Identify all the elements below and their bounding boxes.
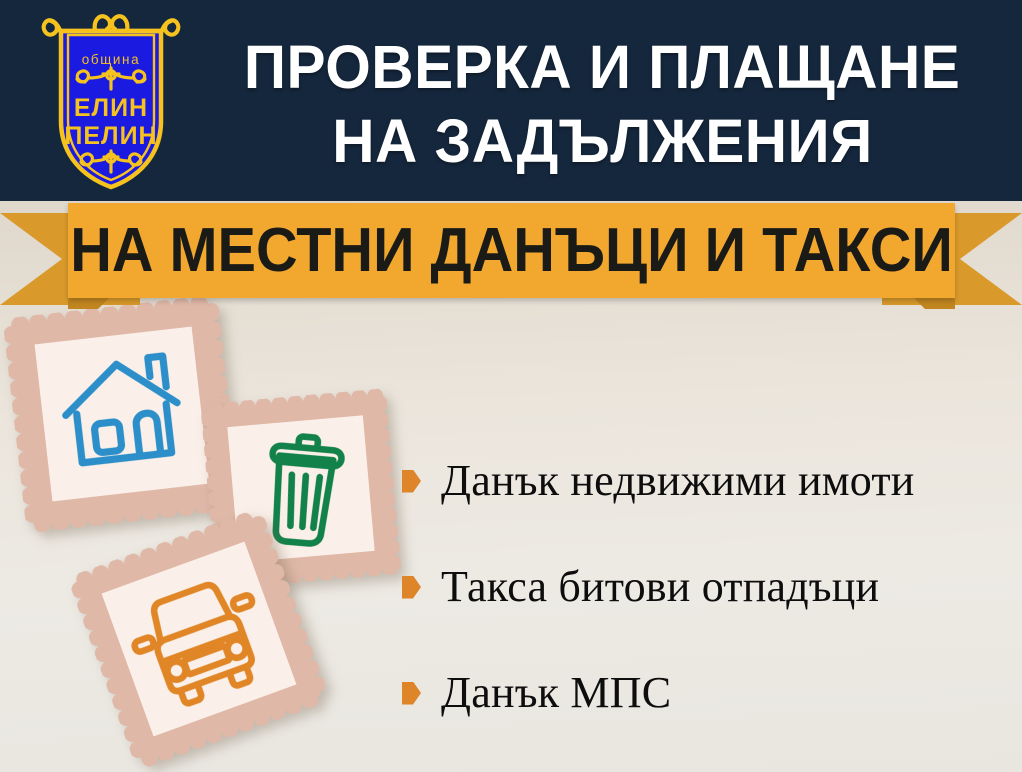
list-item: Данък недвижими имоти (402, 428, 1012, 534)
page-title-line-2: НА ЗАДЪЛЖЕНИЯ (332, 104, 872, 178)
ribbon-subtitle: НА МЕСТНИ ДАНЪЦИ И ТАКСИ (70, 220, 953, 282)
header-title-block: ПРОВЕРКА И ПЛАЩАНЕ НА ЗАДЪЛЖЕНИЯ (196, 14, 1008, 194)
tax-types-list: Данък недвижими имоти Такса битови отпад… (402, 428, 1012, 746)
stamp-paper (35, 327, 210, 502)
list-item: Данък МПС (402, 640, 1012, 746)
list-item-label: Данък недвижими имоти (441, 457, 915, 505)
poster-canvas: община ЕЛИН ПЕЛИН ПРОВЕРКА (0, 0, 1022, 772)
page-title-line-1: ПРОВЕРКА И ПЛАЩАНЕ (244, 30, 960, 104)
coat-of-arms-icon: община ЕЛИН ПЕЛИН (33, 9, 189, 194)
bullet-arrow-icon (402, 470, 421, 493)
list-item-label: Данък МПС (441, 669, 671, 717)
bullet-arrow-icon (402, 576, 421, 599)
svg-text:ПЕЛИН: ПЕЛИН (64, 122, 157, 150)
list-item: Такса битови отпадъци (402, 534, 1012, 640)
svg-text:община: община (82, 52, 140, 67)
list-item-label: Такса битови отпадъци (441, 563, 879, 611)
ribbon-banner: НА МЕСТНИ ДАНЪЦИ И ТАКСИ (0, 196, 1022, 308)
ribbon-panel: НА МЕСТНИ ДАНЪЦИ И ТАКСИ (68, 203, 955, 298)
svg-text:ЕЛИН: ЕЛИН (74, 94, 148, 122)
bullet-arrow-icon (402, 682, 421, 705)
